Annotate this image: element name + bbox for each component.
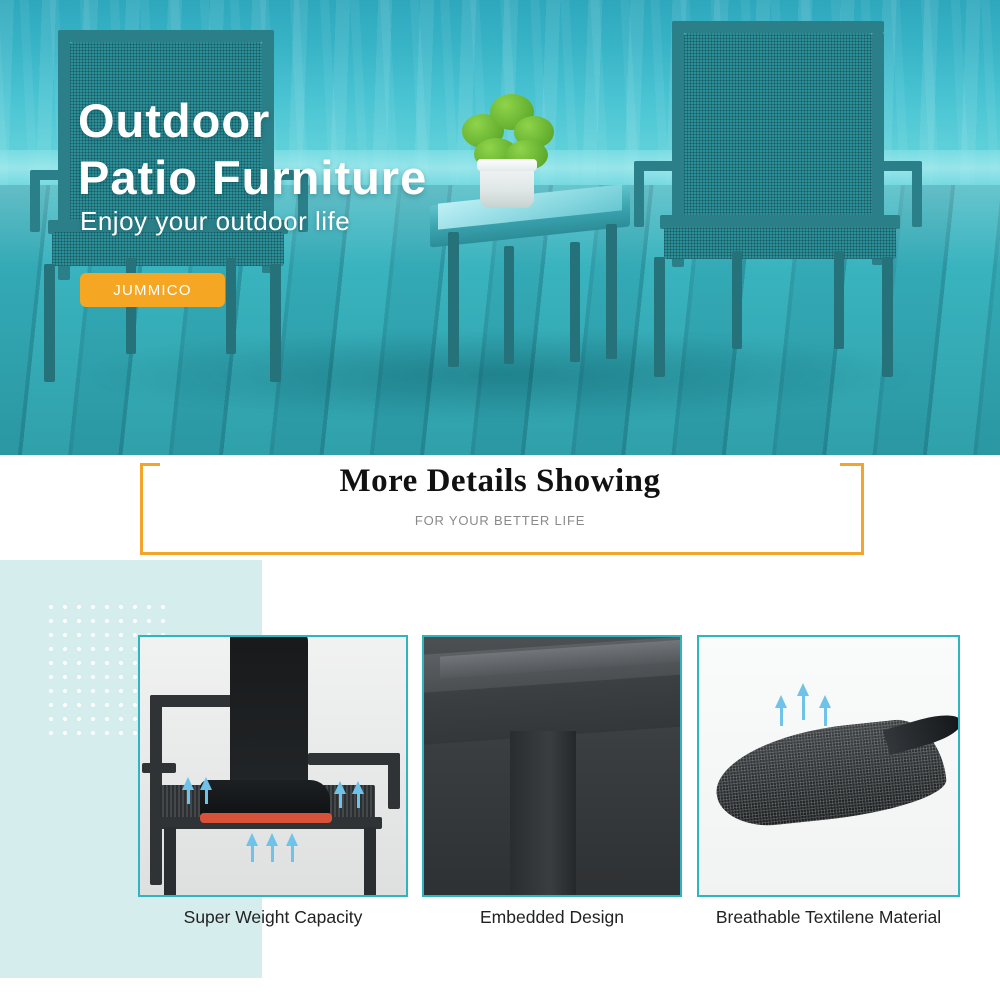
banner-title: More Details Showing [160,463,840,500]
hero-banner: Outdoor Patio Furniture Enjoy your outdo… [0,0,1000,460]
card-teal-border [697,635,960,897]
feature-caption: Breathable Textilene Material [697,907,960,928]
patio-chair-right [620,15,950,385]
details-section: Super Weight Capacity Embedded Design Br… [0,560,1000,1000]
section-banner: More Details Showing FOR YOUR BETTER LIF… [0,455,1000,560]
feature-card-embedded-design: Embedded Design [422,635,682,897]
hero-title: Outdoor Patio Furniture [78,92,427,207]
card-teal-border [422,635,682,897]
banner-inner: More Details Showing FOR YOUR BETTER LIF… [160,455,840,527]
feature-card-weight-capacity: Super Weight Capacity [138,635,408,897]
feature-caption: Embedded Design [422,907,682,928]
hero-subtitle: Enjoy your outdoor life [80,206,350,237]
feature-card-textilene: Breathable Textilene Material [697,635,960,897]
feature-caption: Super Weight Capacity [138,907,408,928]
card-teal-border [138,635,408,897]
banner-subtitle: FOR YOUR BETTER LIFE [160,513,840,528]
brand-badge: JUMMICO [80,273,225,307]
potted-plant [452,92,562,212]
